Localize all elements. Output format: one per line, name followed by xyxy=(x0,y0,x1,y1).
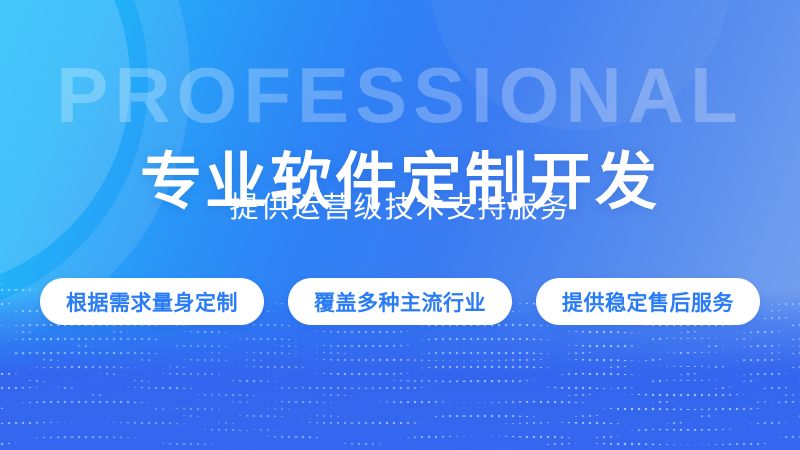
subtitle-text: 提供运营级技术支持服务 xyxy=(0,190,800,228)
watermark-text: PROFESSIONAL xyxy=(0,56,800,134)
feature-pill-3[interactable]: 提供稳定售后服务 xyxy=(536,278,760,325)
feature-pill-1-label: 根据需求量身定制 xyxy=(66,287,238,317)
feature-pill-1[interactable]: 根据需求量身定制 xyxy=(40,278,264,325)
feature-pill-2-label: 覆盖多种主流行业 xyxy=(314,287,486,317)
feature-pill-3-label: 提供稳定售后服务 xyxy=(562,287,734,317)
feature-pill-row: 根据需求量身定制 覆盖多种主流行业 提供稳定售后服务 xyxy=(40,278,760,325)
feature-pill-2[interactable]: 覆盖多种主流行业 xyxy=(288,278,512,325)
promo-banner: PROFESSIONAL 专业软件定制开发 提供运营级技术支持服务 根据需求量身… xyxy=(0,0,800,450)
